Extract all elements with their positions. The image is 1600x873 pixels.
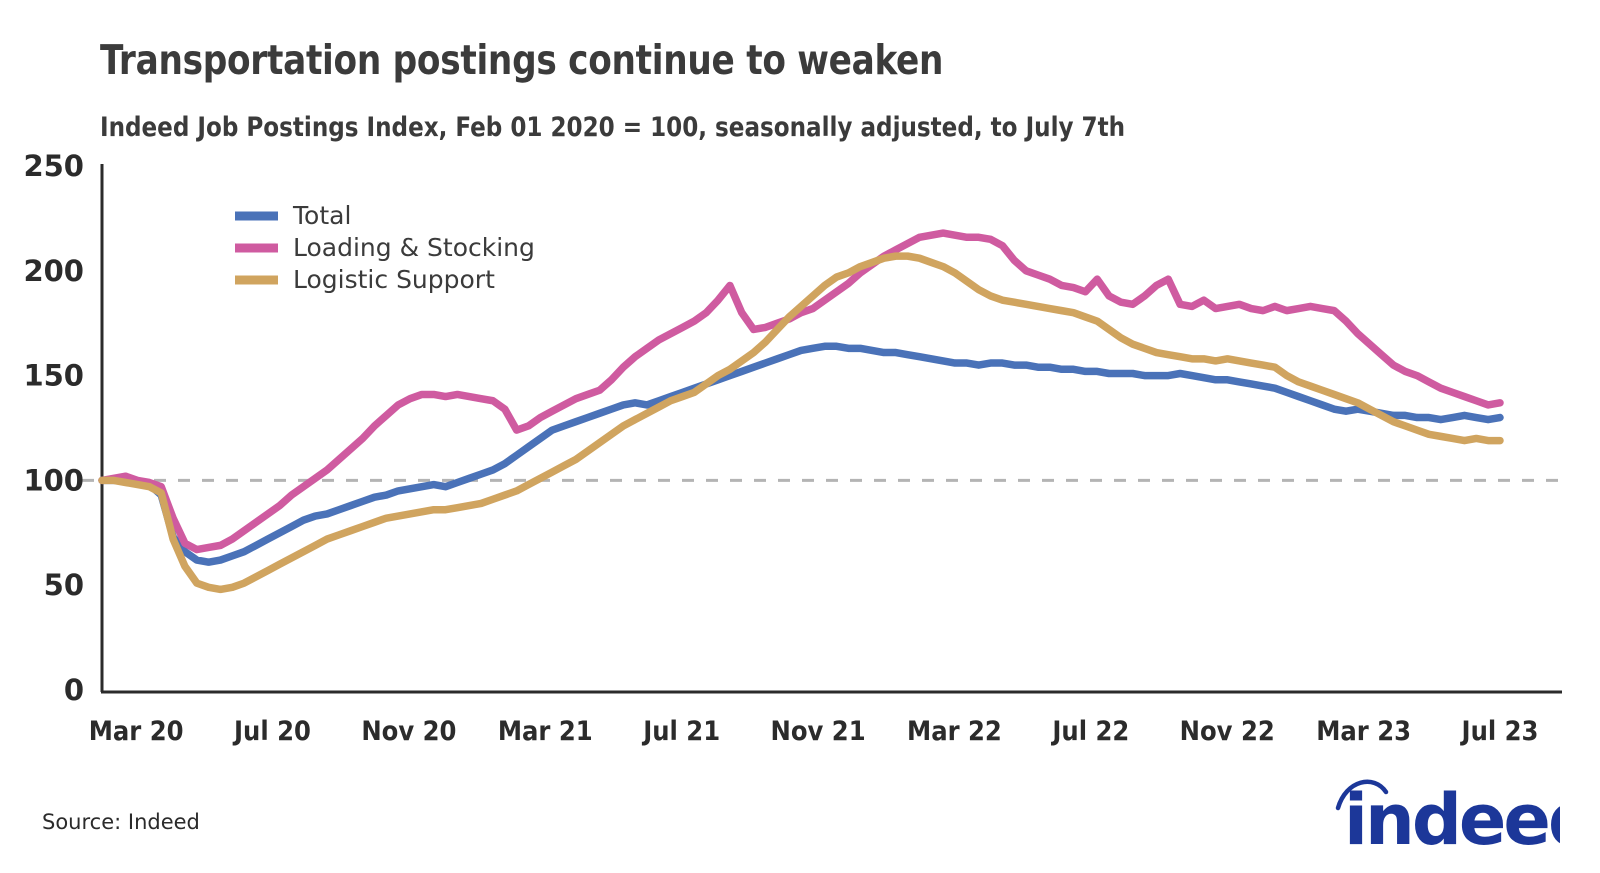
y-axis-tick-label: 150 [23, 359, 84, 393]
x-axis-tick-label: Jul 20 [232, 716, 311, 747]
x-axis-tick-label: Jul 21 [641, 716, 720, 747]
legend-label-logistic-support: Logistic Support [293, 265, 495, 294]
x-axis-tick-label: Nov 20 [361, 716, 456, 747]
x-axis-tick-label: Jul 23 [1460, 716, 1539, 747]
y-axis-tick-label: 200 [23, 254, 84, 288]
chart-plot-area: 050100150200250 Mar 20Jul 20Nov 20Mar 21… [0, 0, 1600, 873]
indeed-logo: indeed [1330, 768, 1560, 854]
x-axis-tick-label: Mar 23 [1316, 716, 1411, 747]
y-axis-tick-label: 100 [23, 463, 84, 497]
series-line-logistic-support [102, 256, 1500, 589]
x-axis-tick-label: Nov 22 [1180, 716, 1275, 747]
x-axis-tick-label: Mar 20 [89, 716, 184, 747]
x-axis-tick-label: Mar 22 [907, 716, 1002, 747]
y-axis-tick-group: 050100150200250 [23, 149, 84, 707]
legend-swatch-total [235, 212, 278, 221]
y-axis-tick-label: 250 [23, 149, 84, 183]
chart-legend: TotalLoading & StockingLogistic Support [235, 201, 535, 294]
source-note: Source: Indeed [42, 810, 200, 834]
x-axis-tick-group: Mar 20Jul 20Nov 20Mar 21Jul 21Nov 21Mar … [89, 716, 1539, 747]
legend-swatch-loading-stocking [235, 244, 278, 253]
y-axis-tick-label: 0 [64, 673, 84, 707]
chart-figure: Transportation postings continue to weak… [0, 0, 1600, 873]
x-axis-tick-label: Mar 21 [498, 716, 593, 747]
x-axis-tick-label: Nov 21 [770, 716, 865, 747]
legend-label-total: Total [292, 201, 351, 230]
logo-wordmark: indeed [1344, 779, 1560, 854]
x-axis-tick-label: Jul 22 [1050, 716, 1129, 747]
y-axis-tick-label: 50 [44, 568, 84, 602]
legend-swatch-logistic-support [235, 276, 278, 285]
legend-label-loading-stocking: Loading & Stocking [293, 233, 535, 262]
